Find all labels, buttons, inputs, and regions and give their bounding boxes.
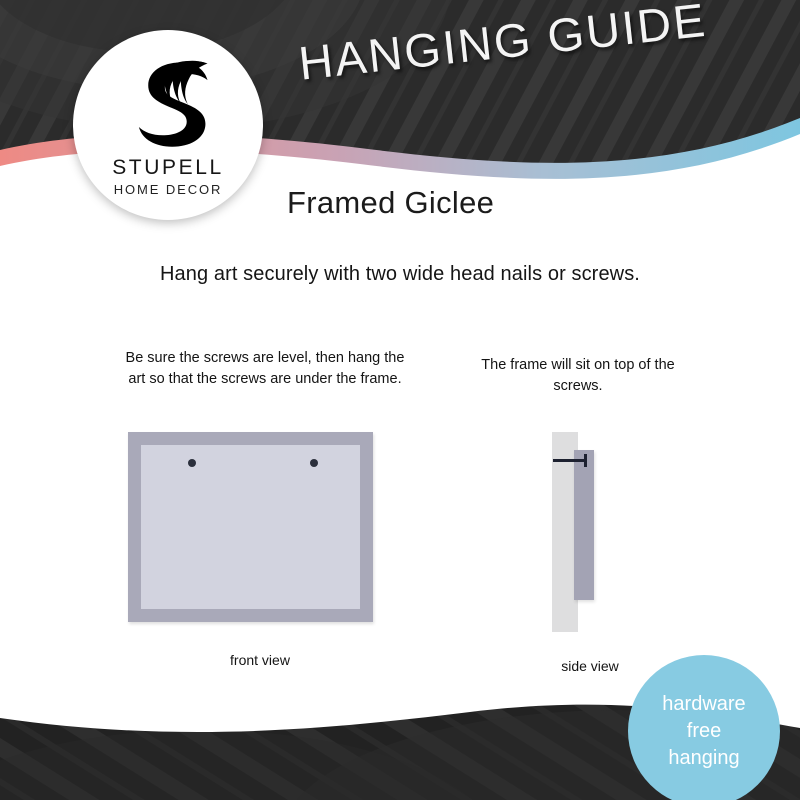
- hardware-badge-line-1: hardware: [662, 691, 745, 718]
- front-view-label: front view: [130, 652, 390, 668]
- page-title: HANGING GUIDE: [296, 0, 700, 91]
- side-view-diagram: [552, 432, 632, 632]
- nail-head-icon: [584, 454, 587, 467]
- product-type-heading: Framed Giclee: [287, 185, 494, 221]
- side-view-caption: The frame will sit on top of the screws.: [468, 355, 688, 397]
- hardware-free-hanging-badge: hardware free hanging: [628, 655, 780, 800]
- lead-instruction-text: Hang art securely with two wide head nai…: [0, 263, 800, 286]
- hardware-badge-line-2: free: [687, 718, 721, 745]
- logo-brand-name: STUPELL: [73, 156, 263, 180]
- screw-dot-left-icon: [188, 459, 196, 467]
- screw-dot-right-icon: [310, 459, 318, 467]
- front-view-caption: Be sure the screws are level, then hang …: [120, 348, 410, 390]
- front-view-frame-diagram: [128, 432, 373, 622]
- hardware-badge-line-3: hanging: [668, 745, 739, 772]
- front-view-mat: [141, 445, 360, 609]
- stupell-swirl-logo-icon: [116, 50, 220, 154]
- hanging-guide-page: HANGING GUIDE STUPELL HOME DECOR Framed …: [0, 0, 800, 800]
- nail-shaft-icon: [553, 459, 586, 462]
- brand-logo-badge: STUPELL HOME DECOR: [73, 30, 263, 220]
- side-view-frame: [574, 450, 594, 600]
- logo-brand-subtitle: HOME DECOR: [73, 182, 263, 197]
